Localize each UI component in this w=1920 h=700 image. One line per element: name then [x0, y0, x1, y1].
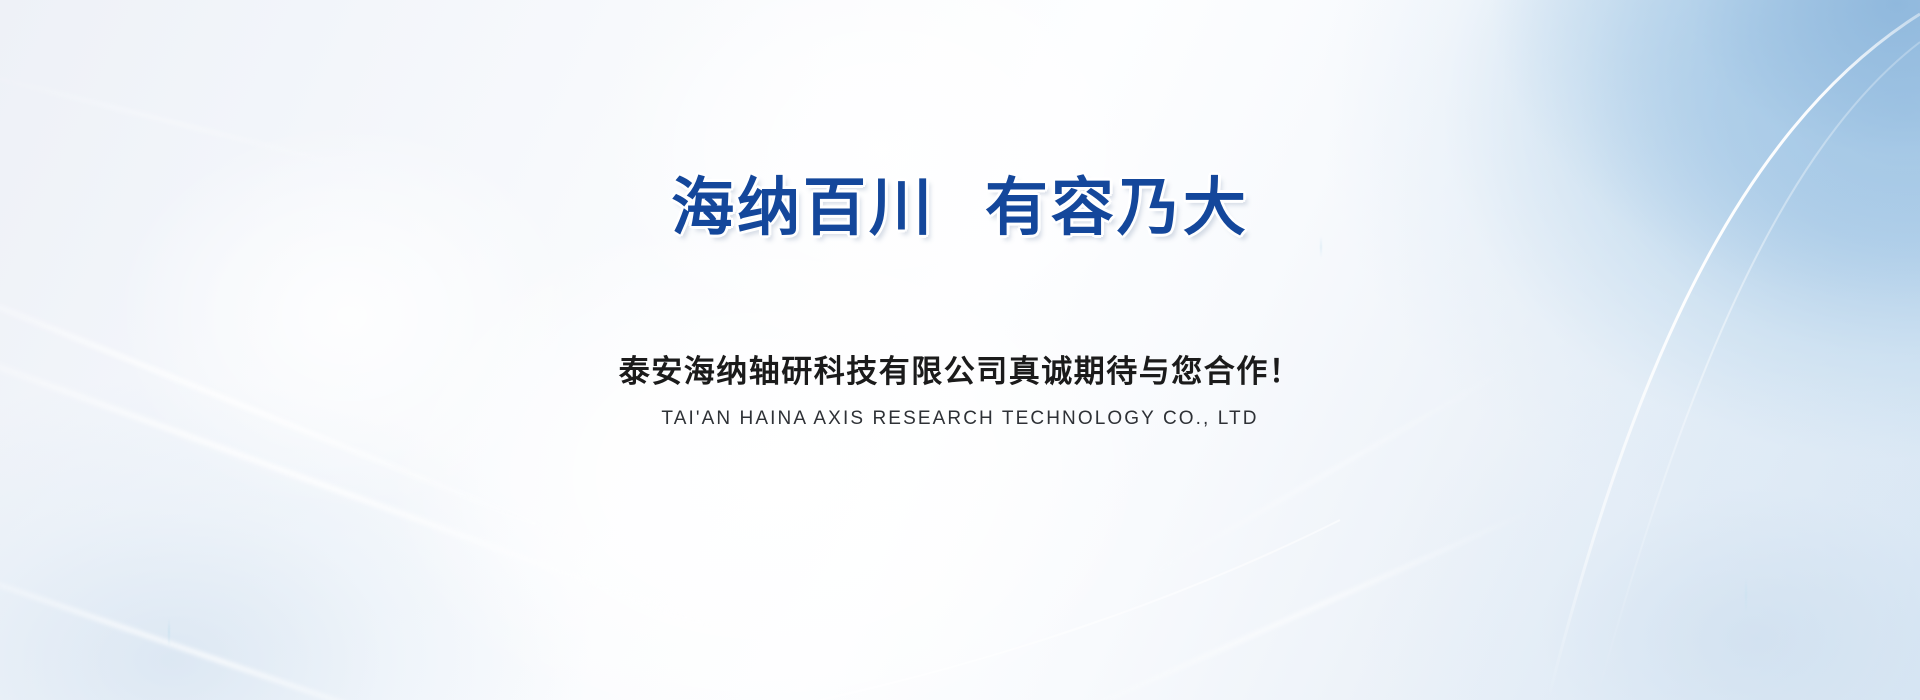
banner-headline: 海纳百川 有容乃大	[671, 176, 1249, 239]
hero-banner: 海纳百川 有容乃大 泰安海纳轴研科技有限公司真诚期待与您合作！ TAI'AN H…	[0, 0, 1920, 700]
banner-subtitle-english: TAI'AN HAINA AXIS RESEARCH TECHNOLOGY CO…	[661, 409, 1258, 428]
banner-content: 海纳百川 有容乃大 泰安海纳轴研科技有限公司真诚期待与您合作！ TAI'AN H…	[0, 0, 1920, 700]
banner-subtitle-chinese: 泰安海纳轴研科技有限公司真诚期待与您合作！	[619, 357, 1302, 388]
